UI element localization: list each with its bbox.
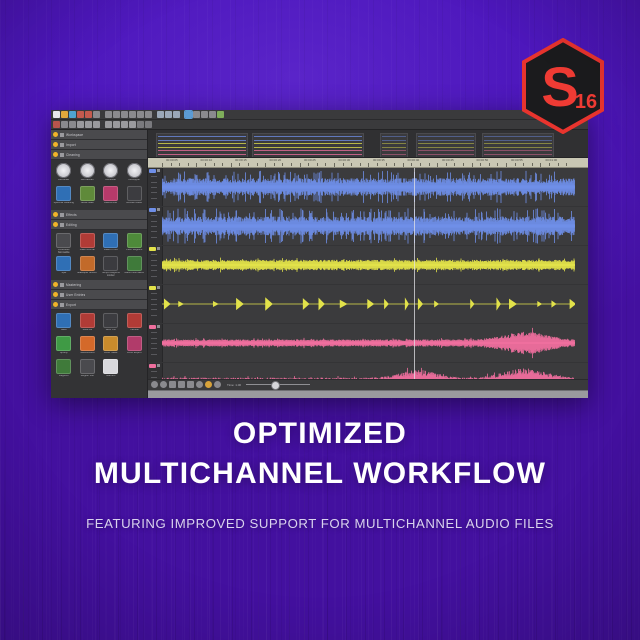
preset-tile-label: Render Audio [124,202,145,207]
channel-color-tag [149,247,156,251]
ruler-tick [549,163,550,166]
ruler-tick [386,163,387,166]
ruler-tick [377,163,378,166]
sidebar-group-effects[interactable]: Effects [51,210,147,220]
sidebar-group-workspace[interactable]: Workspace [51,130,147,140]
ruler-tick [325,163,326,166]
db-scale-mark [151,299,157,300]
db-scale-mark [151,176,157,177]
ruler-tick [214,163,215,166]
overview-waveform-line [418,143,474,144]
copy-icon[interactable] [85,111,92,118]
ruler-tick [343,163,344,166]
promo-banner: WorkspaceImportCleaningDeClickerDeCrackl… [0,0,640,640]
db-scale-mark [151,231,157,232]
logo-version: 16 [575,91,597,113]
expand-dot-icon [53,142,58,147]
db-scale-mark [151,332,157,333]
sound-forge-window[interactable]: WorkspaceImportCleaningDeClickerDeCrackl… [51,110,588,398]
logo-letter: S [541,55,578,118]
open-folder-icon[interactable] [61,111,68,118]
db-scale-mark [151,192,157,193]
group-glyph-icon [60,293,64,297]
preset-tile[interactable]: Noise Gate [77,186,99,207]
pitch-icon [127,233,142,248]
preset-tile-label: ACID Stack [100,352,121,357]
ruler-tick [360,163,361,166]
preset-tile[interactable]: ACID Stack [100,336,122,357]
preset-tile-label: Save [53,329,74,334]
grid-icon[interactable] [145,121,152,128]
waveform-channel-row[interactable] [148,207,588,246]
db-scale-mark [151,315,157,316]
ruler-tick [282,163,283,166]
overview-waveform-line [254,140,362,141]
save-disk-icon [56,313,71,328]
waveform-canvas [162,168,575,206]
channel-header[interactable] [148,168,163,206]
stop-button[interactable] [187,381,194,388]
channel-header[interactable] [148,363,163,379]
group-glyph-icon [60,153,64,157]
channel-color-tag [149,364,156,368]
db-scale-mark [151,237,157,238]
ruler-tick [188,163,189,166]
expand-dot-icon [53,132,58,137]
sidebar-group-editing[interactable]: Editing [51,220,147,230]
channel-mute-icon[interactable] [157,364,160,367]
preset-tile-label: Burn CD [100,329,121,334]
ruler-label: 00:00:50 [477,158,489,162]
preset-tile[interactable]: DeClicker [53,163,75,184]
fade-inout-icon [103,233,118,248]
db-scale-mark [151,265,157,266]
ruler-tick [411,163,412,166]
acid-export-icon [127,336,142,351]
transport-bar[interactable]: Time: 1.00 [148,379,588,390]
group-glyph-icon [60,133,64,137]
overview-waveform-line [158,143,246,144]
preset-tile[interactable]: DeHummer [100,186,122,207]
headline-line-2: MULTICHANNEL WORKFLOW [0,454,640,494]
toolbar-separator [181,111,184,118]
acid-stack-icon [103,336,118,351]
preset-tile-label: DeNoiser [100,179,121,184]
pencil-icon[interactable] [113,111,120,118]
channel-mute-icon[interactable] [157,286,160,289]
tempo-icon [103,256,118,271]
db-scale-mark [151,304,157,305]
stop-icon[interactable] [93,121,100,128]
undo-icon[interactable] [157,111,164,118]
tile-grid-export: SaveSave AsBurn CDTransferSpotifySoundCl… [51,310,147,383]
preset-tile-label: Match Normalize [124,272,145,277]
channel-mute-icon[interactable] [157,325,160,328]
preset-tile[interactable]: DeCrackler [77,163,99,184]
overview-waveform-line [418,147,474,148]
spectral-icon [56,186,71,201]
waveform-canvas [162,207,575,245]
zoom-slider[interactable] [246,381,310,388]
ruler-tick [248,163,249,166]
channel-waveform [162,285,588,323]
overview-minimap[interactable] [148,130,588,158]
overview-waveform-line [418,136,474,137]
go-to-start-icon[interactable] [105,121,112,128]
channel-header[interactable] [148,207,163,245]
channel-color-tag [149,325,156,329]
channel-header[interactable] [148,285,163,323]
toolbar-separator [153,111,156,118]
ruler-label: 00:00:55 [511,158,523,162]
markers-icon [103,359,118,374]
preset-tile-label: Regions [53,375,74,380]
group-glyph-icon [60,303,64,307]
group-glyph-icon [60,223,64,227]
waveform-canvas [162,285,575,323]
tile-grid-editing: Loudness NormalizeFade NormalFade In Out… [51,230,147,280]
zoom-level-label: Time: 1.00 [227,383,241,387]
overview-waveform-line [484,150,552,151]
time-ruler[interactable]: 00:00:0500:00:1000:00:1500:00:2000:00:25… [148,158,588,168]
overview-clip[interactable] [416,133,476,158]
rewind-icon[interactable] [113,121,120,128]
ruler-tick [566,163,567,166]
db-scale-mark [151,348,157,349]
preset-tile[interactable]: Regions [53,359,75,380]
channel-color-tag [149,169,156,173]
toolbar-separator [101,111,104,118]
stretch-icon [80,256,95,271]
channel-color-tag [149,208,156,212]
cut-icon[interactable] [77,111,84,118]
ruler-tick [274,163,275,166]
ruler-tick [480,163,481,166]
channel-view-icon[interactable] [185,111,192,118]
sidebar-group-label: Export [66,303,76,307]
pause-icon[interactable] [85,121,92,128]
overview-waveform-line [158,136,246,137]
main-toolbar[interactable] [51,110,588,120]
ruler-tick [446,163,447,166]
ruler-label: 00:00:30 [339,158,351,162]
preset-tile[interactable]: Region List [77,359,99,380]
overview-waveform-line [382,140,406,141]
ruler-tick [171,163,172,166]
record-button[interactable] [151,381,158,388]
overview-waveform-line [382,143,406,144]
db-scale-mark [151,293,157,294]
refresh-icon[interactable] [173,111,180,118]
render-icon [127,186,142,201]
waveform-channel-row[interactable] [148,324,588,363]
group-glyph-icon [60,283,64,287]
overview-waveform-line [382,154,406,155]
overview-clip[interactable] [252,133,364,158]
prev-button[interactable] [169,381,176,388]
ruler-label: 00:01:00 [546,158,558,162]
burn-cd-icon [103,313,118,328]
preset-tile[interactable]: DeNoiser [100,163,122,184]
preset-tile-label: Tempo Regions Limiter [100,272,121,277]
save-icon[interactable] [69,111,76,118]
ruler-tick [179,163,180,166]
preset-tile[interactable]: Transfer [124,313,146,334]
expand-dot-icon [53,222,58,227]
db-scale-mark [151,198,157,199]
play-icon[interactable] [77,121,84,128]
globe-icon [103,163,118,178]
channel-waveform [162,324,588,362]
channel-mute-icon[interactable] [157,169,160,172]
preset-tile-label: Spectral Cleaning [53,202,74,207]
channel-waveform [162,168,588,206]
overview-clip[interactable] [482,133,554,158]
region-icon[interactable] [137,111,144,118]
ruler-tick [317,163,318,166]
transport-toolbar[interactable] [51,120,588,130]
ruler-tick [463,163,464,166]
pause-button[interactable] [205,381,212,388]
preset-tile-label: Spotify [53,352,74,357]
play-button[interactable] [196,381,203,388]
playhead-cursor[interactable] [414,168,415,379]
redo-icon[interactable] [165,111,172,118]
overview-waveform-line [418,150,474,151]
ruler-label: 00:00:25 [304,158,316,162]
waveform-canvas [162,324,575,362]
volume-icon[interactable] [209,111,216,118]
record-icon[interactable] [105,111,112,118]
overview-waveform-line [254,150,362,151]
preset-tile[interactable]: Save [53,313,75,334]
ruler-tick [239,163,240,166]
channel-header[interactable] [148,246,163,284]
gate-icon [80,186,95,201]
preset-tile[interactable]: Split [53,256,75,277]
preset-tile-label: Fade Normal [77,249,98,254]
overview-waveform-line [158,150,246,151]
preset-tile[interactable]: Spotify [53,336,75,357]
preset-tile-label: Markers [100,375,121,380]
effects-icon[interactable] [217,111,224,118]
go-to-end-icon[interactable] [129,121,136,128]
transport-record-icon[interactable] [53,121,60,128]
ruler-label: 00:00:05 [166,158,178,162]
db-scale-mark [151,215,157,216]
db-scale-mark [151,182,157,183]
overview-clip[interactable] [156,133,248,158]
select-tool-icon[interactable] [121,111,128,118]
marker-icon[interactable] [129,111,136,118]
channel-mute-icon[interactable] [157,208,160,211]
overview-clip[interactable] [380,133,408,158]
preset-tile[interactable]: Burn CD [100,313,122,334]
spotify-icon [56,336,71,351]
transport-stop-icon[interactable] [61,121,68,128]
sidebar-group-label: Workspace [66,133,83,137]
headline-line-1: OPTIMIZED [0,414,640,454]
toolbar-separator [153,121,156,128]
overview-waveform-line [484,140,552,141]
waveform-canvas [162,363,575,379]
split-icon [56,256,71,271]
preset-tile-label: Elastique Stretch [77,272,98,277]
preset-tile[interactable]: ACID Export [124,336,146,357]
waveform-channel-row[interactable] [148,168,588,207]
preset-tile[interactable]: Markers [100,359,122,380]
preset-tile[interactable]: Spectral Cleaning [53,186,75,207]
db-scale-mark [151,260,157,261]
preset-tile-label: Loudness Normalize [53,249,74,254]
channel-waveform [162,246,588,284]
forward-icon[interactable] [121,121,128,128]
sidebar-group-label: Editing [66,223,77,227]
region-list-icon [80,359,95,374]
soundcloud-icon [80,336,95,351]
ruler-tick [497,163,498,166]
overview-waveform-line [382,150,406,151]
overview-waveform-line [158,154,246,155]
preset-tile[interactable]: Tempo Regions Limiter [100,256,122,277]
db-scale-mark [151,371,157,372]
db-scale-mark [151,221,157,222]
ruler-tick [454,163,455,166]
preset-tile-label: SoundCloud [77,352,98,357]
sidebar-group-user-entries[interactable]: User Entries [51,290,147,300]
sidebar-group-import[interactable]: Import [51,140,147,150]
db-scale-mark [151,270,157,271]
waveform-display[interactable] [148,168,588,379]
ruler-label: 00:00:10 [201,158,213,162]
preset-tile-label: Save As [77,329,98,334]
preset-tile-label: DeHummer [100,202,121,207]
promo-copy: OPTIMIZED MULTICHANNEL WORKFLOW FEATURIN… [0,414,640,531]
sidebar-group-mastering[interactable]: Mastering [51,280,147,290]
channel-waveform [162,363,588,379]
preset-tile[interactable]: Save As [77,313,99,334]
ruler-label: 00:00:40 [408,158,420,162]
ruler-tick [205,163,206,166]
ruler-tick [420,163,421,166]
preset-tile[interactable]: Pitch Regions [124,233,146,254]
db-scale-mark [151,276,157,277]
toolbar-separator [101,121,104,128]
overview-waveform-line [484,154,552,155]
preset-tile[interactable]: Elastique Stretch [77,256,99,277]
channel-header[interactable] [148,324,163,362]
ruler-tick [523,163,524,166]
zoom-in-icon[interactable] [193,111,200,118]
preset-tile-label: Fade In Out [100,249,121,254]
preset-tile-label: Split [53,272,74,277]
overview-waveform-line [382,136,406,137]
paste-icon[interactable] [93,111,100,118]
preset-tile[interactable]: DeClipper [124,163,146,184]
overview-waveform-line [158,140,246,141]
next-button[interactable] [214,381,221,388]
editor-pane: 00:00:0500:00:1000:00:1500:00:2000:00:25… [148,130,588,398]
fade-icon [80,233,95,248]
preset-tile-label: Transfer [124,329,145,334]
preset-tile-label: DeClipper [124,179,145,184]
ruler-tick [558,163,559,166]
ruler-label: 00:00:20 [270,158,282,162]
ruler-tick [429,163,430,166]
overview-waveform-line [484,143,552,144]
ruler-tick [308,163,309,166]
preset-tile-label: Noise Gate [77,202,98,207]
loop-button[interactable] [160,381,167,388]
ruler-tick [532,163,533,166]
zoom-out-icon[interactable] [201,111,208,118]
overview-waveform-line [484,136,552,137]
ruler-tick [394,163,395,166]
preset-tile[interactable]: Match Normalize [124,256,146,277]
ruler-tick [489,163,490,166]
sidebar-group-cleaning[interactable]: Cleaning [51,150,147,160]
db-scale-mark [151,338,157,339]
preset-tile-label: Pitch Regions [124,249,145,254]
new-file-icon[interactable] [53,111,60,118]
waveform-channel-row[interactable] [148,285,588,324]
ruler-label: 00:00:45 [442,158,454,162]
group-glyph-icon [60,213,64,217]
preset-tile[interactable]: Loudness Normalize [53,233,75,254]
sidebar-group-label: Cleaning [66,153,80,157]
preset-tile[interactable]: Fade Normal [77,233,99,254]
waveform-channel-row[interactable] [148,363,588,379]
tile-grid-cleaning: DeClickerDeCracklerDeNoiserDeClipperSpec… [51,160,147,210]
snap-icon[interactable] [137,121,144,128]
ruler-tick [515,163,516,166]
status-bar [148,390,588,398]
db-scale-mark [151,343,157,344]
globe-icon [127,163,142,178]
preset-tile-label: DeClicker [53,179,74,184]
preset-tile-label: DeCrackler [77,179,98,184]
ruler-tick [291,163,292,166]
transport-loop-icon[interactable] [69,121,76,128]
sound-forge-hexagon-logo: S 16 [520,38,606,134]
transfer-icon [127,313,142,328]
hum-icon [103,186,118,201]
preset-tile[interactable]: Fade In Out [100,233,122,254]
loudness-icon [56,233,71,248]
db-scale-mark [151,254,157,255]
sidebar-group-label: Effects [66,213,77,217]
db-scale-mark [151,309,157,310]
save-as-icon [80,313,95,328]
sidebar-group-export[interactable]: Export [51,300,147,310]
sidebar-group-label: Mastering [66,283,81,287]
preset-sidebar[interactable]: WorkspaceImportCleaningDeClickerDeCrackl… [51,130,148,398]
expand-dot-icon [53,212,58,217]
loop-icon[interactable] [145,111,152,118]
db-scale-mark [151,187,157,188]
channel-mute-icon[interactable] [157,247,160,250]
preset-tile[interactable]: SoundCloud [77,336,99,357]
overview-waveform-line [254,136,362,137]
rewind-button[interactable] [178,381,185,388]
overview-waveform-line [254,143,362,144]
db-scale-mark [151,354,157,355]
waveform-channel-row[interactable] [148,246,588,285]
group-glyph-icon [60,143,64,147]
preset-tile[interactable]: Render Audio [124,186,146,207]
ruler-tick [222,163,223,166]
overview-waveform-line [254,147,362,148]
